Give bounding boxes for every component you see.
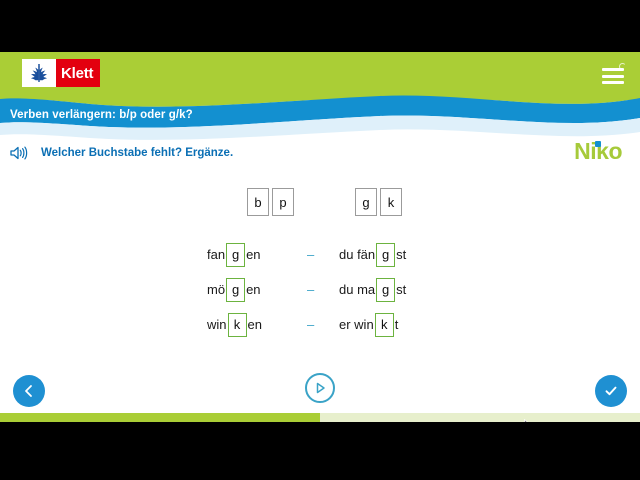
- word-right-prefix: du fän: [339, 247, 375, 262]
- word-left-suffix: en: [248, 317, 262, 332]
- letter-tile-g[interactable]: g: [355, 188, 377, 216]
- word-right: du fän g st: [339, 243, 406, 267]
- word-left-prefix: mö: [207, 282, 225, 297]
- table-row: fan g en – du fän g st: [0, 237, 640, 272]
- chevron-left-icon: [22, 384, 36, 398]
- letter-tile-k[interactable]: k: [380, 188, 402, 216]
- answer-box[interactable]: g: [226, 243, 245, 267]
- word-left-prefix: fan: [207, 247, 225, 262]
- answer-box[interactable]: g: [376, 243, 395, 267]
- hamburger-bar-3: [602, 81, 624, 84]
- klett-wordmark: Klett: [56, 59, 100, 87]
- niko-dot-icon: [595, 141, 601, 147]
- klett-logo[interactable]: Klett: [22, 59, 100, 87]
- word-right-suffix: t: [395, 317, 399, 332]
- word-right-prefix: er win: [339, 317, 374, 332]
- answer-box[interactable]: g: [226, 278, 245, 302]
- exercise-area: b p g k fan g en – du fän g: [0, 187, 640, 342]
- word-left: mö g en: [207, 278, 261, 302]
- instruction-row: Welcher Buchstabe fehlt? Ergänze.: [10, 145, 233, 161]
- word-left-suffix: en: [246, 247, 260, 262]
- word-left: fan g en: [207, 243, 261, 267]
- letterbox-top: [0, 0, 640, 52]
- row-separator: –: [307, 317, 314, 332]
- hamburger-menu-icon[interactable]: [602, 68, 624, 84]
- hamburger-bar-2: [602, 75, 624, 78]
- letterbox-bottom: [0, 422, 640, 480]
- niko-brand-logo: Niko: [574, 138, 622, 165]
- answer-box[interactable]: k: [375, 313, 394, 337]
- table-row: mö g en – du ma g st: [0, 272, 640, 307]
- row-separator: –: [307, 282, 314, 297]
- row-separator: –: [307, 247, 314, 262]
- word-left: win k en: [207, 313, 262, 337]
- instruction-text: Welcher Buchstabe fehlt? Ergänze.: [41, 147, 233, 159]
- progress-bar: [0, 413, 640, 422]
- word-right-prefix: du ma: [339, 282, 375, 297]
- word-right: du ma g st: [339, 278, 406, 302]
- lesson-title: Verben verlängern: b/p oder g/k?: [10, 109, 193, 121]
- hamburger-badge-icon: [619, 63, 626, 70]
- confirm-button[interactable]: [595, 375, 627, 407]
- word-right: er win k t: [339, 313, 398, 337]
- screen-root: Klett Verben verlängern: b/p oder g/k?: [0, 0, 640, 480]
- progress-fill: [0, 413, 320, 422]
- table-row: win k en – er win k t: [0, 307, 640, 342]
- speaker-sound-icon[interactable]: [10, 145, 28, 161]
- play-icon: [313, 381, 327, 395]
- letter-tile-bank: b p g k: [247, 187, 640, 217]
- word-right-suffix: st: [396, 247, 406, 262]
- letter-tile-p[interactable]: p: [272, 188, 294, 216]
- word-left-suffix: en: [246, 282, 260, 297]
- answer-box[interactable]: k: [228, 313, 247, 337]
- klett-emblem-icon: [22, 59, 56, 87]
- word-rows: fan g en – du fän g st mö g en: [0, 237, 640, 342]
- answer-box[interactable]: g: [376, 278, 395, 302]
- app-viewport: Klett Verben verlängern: b/p oder g/k?: [0, 52, 640, 422]
- letter-tile-b[interactable]: b: [247, 188, 269, 216]
- play-button[interactable]: [305, 373, 335, 403]
- word-left-prefix: win: [207, 317, 227, 332]
- word-right-suffix: st: [396, 282, 406, 297]
- checkmark-icon: [603, 383, 619, 399]
- previous-button[interactable]: [13, 375, 45, 407]
